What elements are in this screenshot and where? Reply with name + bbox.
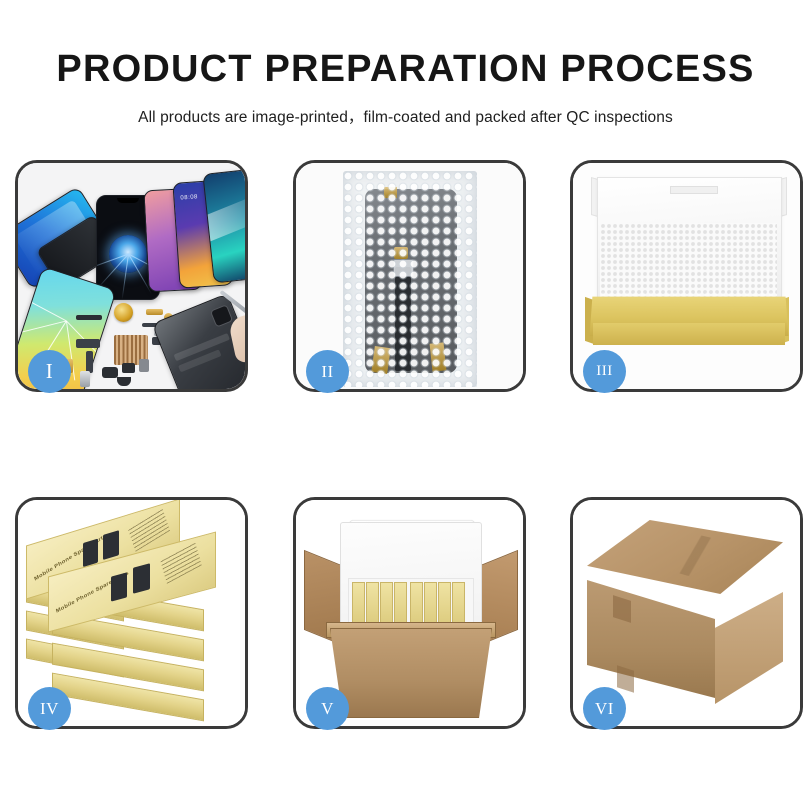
infographic-page: PRODUCT PREPARATION PROCESS All products… <box>0 0 811 811</box>
spare-part <box>122 363 135 373</box>
page-title: PRODUCT PREPARATION PROCESS <box>0 0 811 88</box>
lid-window <box>111 572 127 601</box>
header: PRODUCT PREPARATION PROCESS All products… <box>0 0 811 127</box>
screen-crack <box>18 320 67 335</box>
step-badge-2: II <box>306 350 349 393</box>
step-badge-5: V <box>306 687 349 730</box>
process-step-2[interactable]: II <box>293 160 526 392</box>
step-badge-4: IV <box>28 687 71 730</box>
step-badge-3: III <box>583 350 626 393</box>
spare-part <box>76 315 102 320</box>
step-badge-6: VI <box>583 687 626 730</box>
spare-part <box>86 351 93 373</box>
process-step-1[interactable]: 08:08 <box>15 160 248 392</box>
bubble-texture <box>343 171 477 387</box>
spare-part <box>139 359 149 372</box>
lid-window <box>103 530 119 560</box>
spare-part <box>80 371 90 387</box>
carton-body <box>330 628 492 718</box>
spare-part <box>102 367 118 378</box>
process-step-grid: 08:08 <box>0 160 811 750</box>
lid-window <box>133 563 150 594</box>
phone-clock-text: 08:08 <box>180 194 198 201</box>
process-step-6[interactable]: VI <box>570 497 803 729</box>
step-badge-1: I <box>28 350 71 393</box>
bubble-wrap-bag <box>343 171 477 387</box>
yellow-box-front <box>593 323 785 345</box>
page-subtitle: All products are image-printed，film-coat… <box>0 88 811 127</box>
phone-notch <box>117 198 139 203</box>
spare-part <box>76 339 100 348</box>
vibration-coil-part <box>114 303 133 322</box>
lid-tab <box>670 186 718 194</box>
process-step-3[interactable]: III <box>570 160 803 392</box>
lid-spec-lines <box>160 542 202 584</box>
process-step-5[interactable]: V <box>293 497 526 729</box>
foam-liner <box>600 223 777 301</box>
spare-part <box>146 309 163 315</box>
camera-module <box>210 304 233 327</box>
process-step-4[interactable]: Mobile Phone Spare Parts Mobile Phone Sp… <box>15 497 248 729</box>
